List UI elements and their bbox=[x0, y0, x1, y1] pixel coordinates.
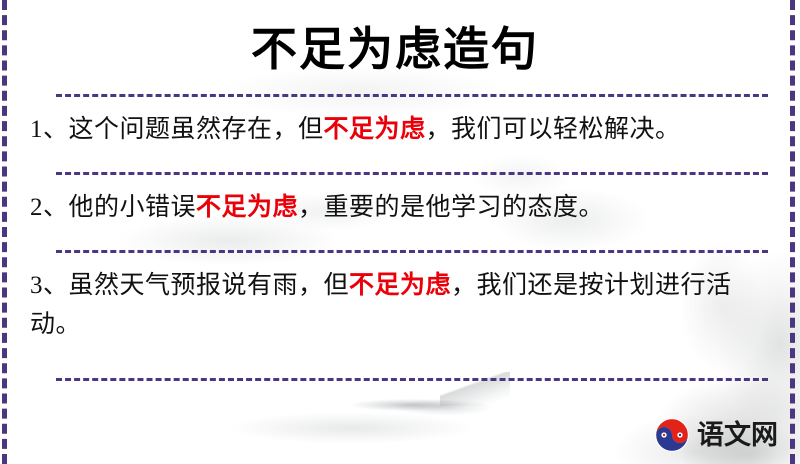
example-sentence-1: 1、这个问题虽然存在，但不足为虑，我们可以轻松解决。 bbox=[16, 97, 774, 162]
sentence-index-1: 1、 bbox=[30, 116, 69, 143]
example-sentence-3: 3、虽然天气预报说有雨，但不足为虑，我们还是按计划进行活动。 bbox=[16, 253, 774, 357]
logo-text: 语文网 bbox=[697, 422, 778, 449]
site-logo[interactable]: 语文网 bbox=[653, 416, 778, 454]
sentence-text-before-1: 这个问题虽然存在，但 bbox=[69, 116, 324, 143]
sentence-text-after-2: ，重要的是他学习的态度。 bbox=[298, 194, 604, 221]
page-title: 不足为虑造句 bbox=[16, 0, 774, 76]
idiom-highlight-3: 不足为虑 bbox=[349, 272, 451, 299]
dashed-border-left bbox=[2, 0, 7, 464]
sentence-index-3: 3、 bbox=[30, 272, 69, 299]
sentence-index-2: 2、 bbox=[30, 194, 69, 221]
idiom-highlight-2: 不足为虑 bbox=[196, 194, 298, 221]
dashed-border-right bbox=[790, 0, 795, 464]
sentence-text-before-2: 他的小错误 bbox=[69, 194, 197, 221]
idiom-highlight-1: 不足为虑 bbox=[324, 116, 426, 143]
slide-page: 不足为虑造句 1、这个问题虽然存在，但不足为虑，我们可以轻松解决。 2、他的小错… bbox=[0, 0, 800, 464]
slide-content: 不足为虑造句 1、这个问题虽然存在，但不足为虑，我们可以轻松解决。 2、他的小错… bbox=[0, 0, 800, 464]
sentence-text-after-1: ，我们可以轻松解决。 bbox=[426, 116, 681, 143]
sentence-text-before-3: 虽然天气预报说有雨，但 bbox=[69, 272, 350, 299]
dashed-separator-4 bbox=[56, 378, 768, 381]
yin-yang-fish-icon bbox=[653, 416, 691, 454]
example-sentence-2: 2、他的小错误不足为虑，重要的是他学习的态度。 bbox=[16, 175, 774, 240]
